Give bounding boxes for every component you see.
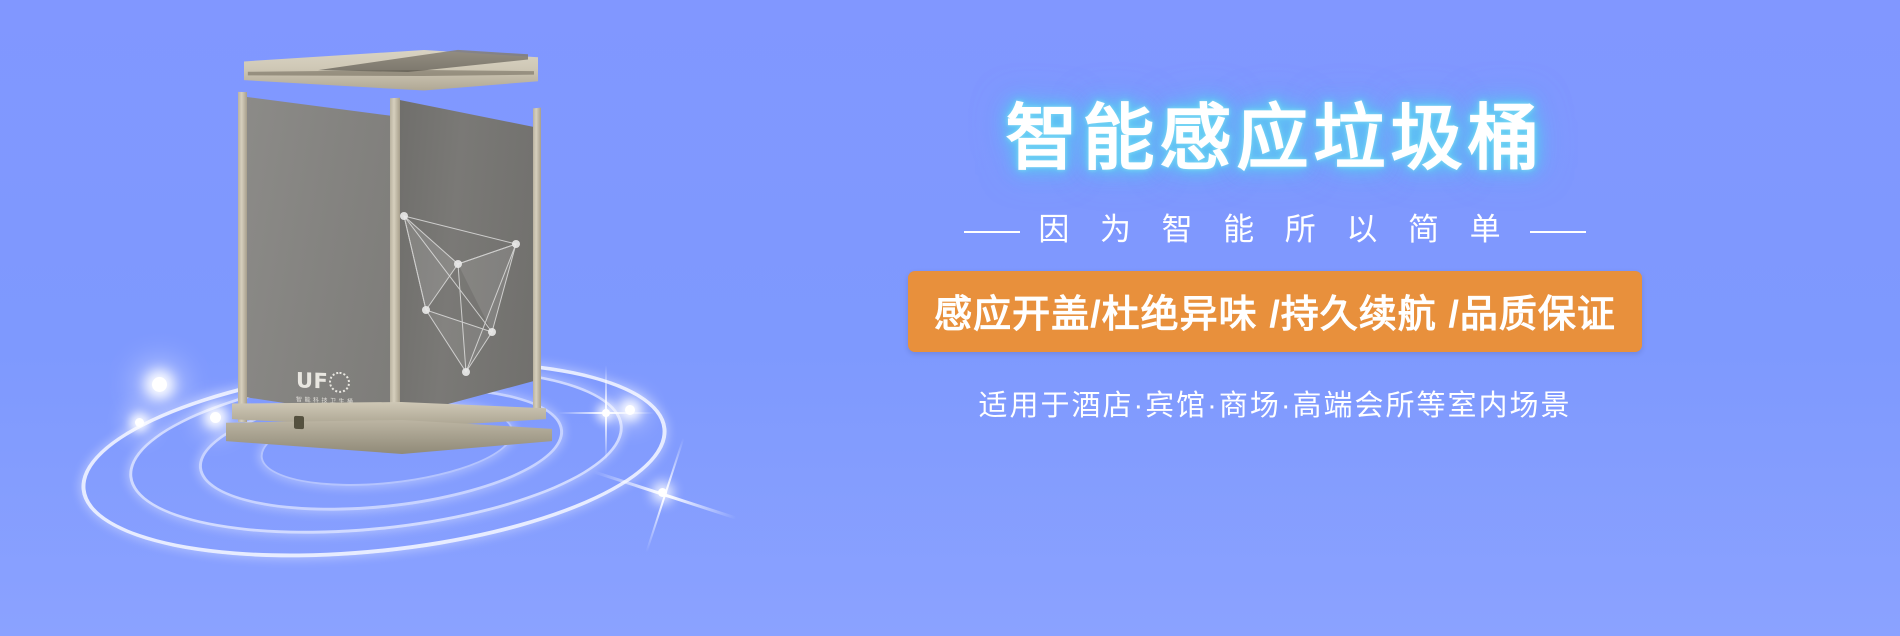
headline: 智能感应垃圾桶 xyxy=(710,96,1840,182)
subline: 因 为 智 能 所 以 简 单 xyxy=(710,204,1840,249)
features-badge: 感应开盖/杜绝异味 /持久续航 /品质保证 xyxy=(908,271,1642,352)
subline-text: 因 为 智 能 所 以 简 单 xyxy=(1038,212,1511,247)
subline-rule-left xyxy=(964,231,1020,233)
bin-logo-letters: UF xyxy=(296,370,328,392)
trash-bin-product: UF 智能科技卫生桶 SMART INDUCTION TRASH CAN xyxy=(220,50,550,440)
scenes-text: 适用于酒店·宾馆·商场·高端会所等室内场景 xyxy=(710,382,1840,424)
subline-rule-right xyxy=(1530,231,1586,233)
bin-side-panel xyxy=(396,96,540,418)
sparkle-core-icon xyxy=(658,488,667,497)
glow-dot-icon xyxy=(135,418,144,427)
bin-logo-mark: UF xyxy=(296,370,388,395)
glow-dot-icon xyxy=(152,377,167,392)
promo-banner: UF 智能科技卫生桶 SMART INDUCTION TRASH CAN xyxy=(0,0,1900,636)
bin-corner-pillar xyxy=(390,98,400,423)
product-stage: UF 智能科技卫生桶 SMART INDUCTION TRASH CAN xyxy=(70,20,750,580)
sparkle-core-icon xyxy=(602,409,610,417)
bin-base xyxy=(226,402,552,458)
bin-base-lock-slot xyxy=(294,416,304,430)
polygon-network-graphic xyxy=(396,96,540,418)
dotted-ring-icon xyxy=(329,372,350,394)
banner-copy: 智能感应垃圾桶 因 为 智 能 所 以 简 单 感应开盖/杜绝异味 /持久续航 … xyxy=(710,96,1840,424)
bin-corner-pillar xyxy=(238,92,247,422)
bin-base-lower-plinth xyxy=(226,420,552,454)
bin-front-panel: UF 智能科技卫生桶 SMART INDUCTION TRASH CAN xyxy=(244,90,396,420)
bin-corner-pillar xyxy=(533,108,541,415)
